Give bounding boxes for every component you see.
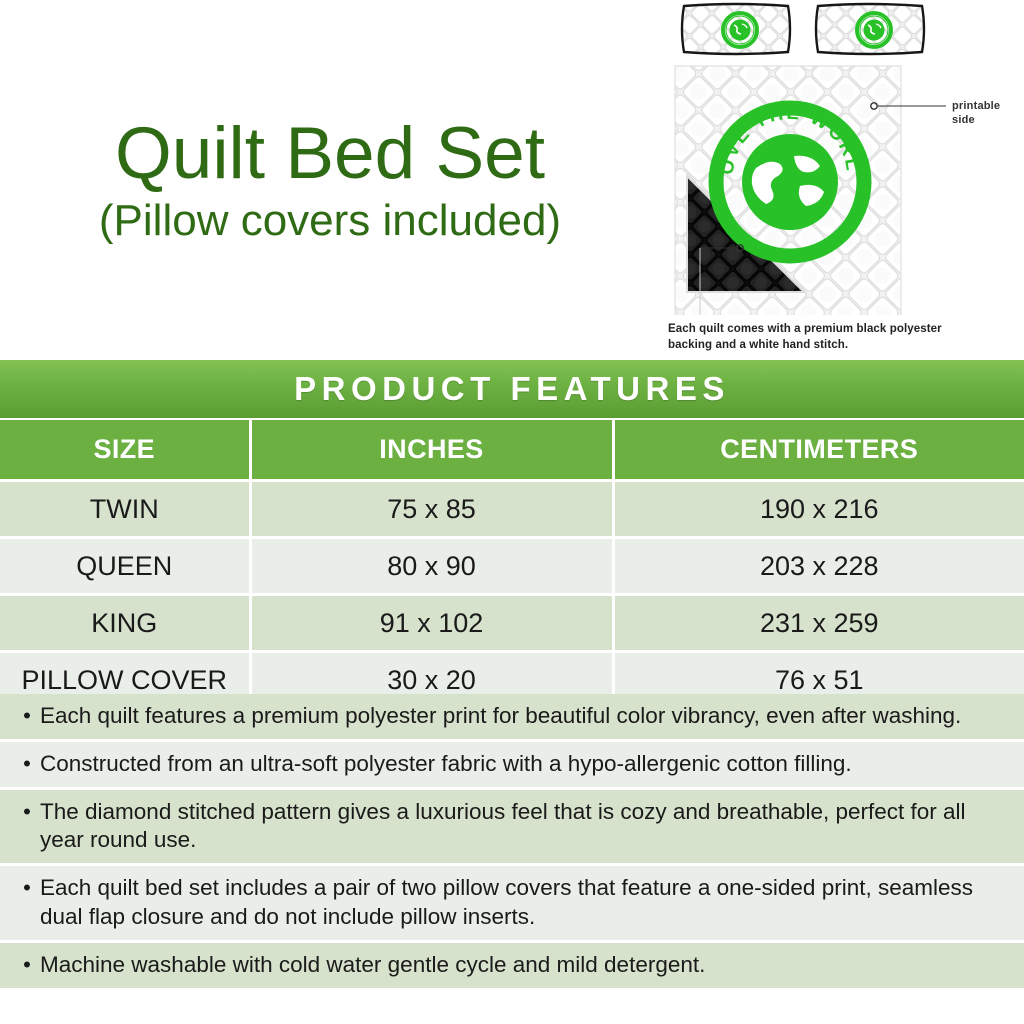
bullet-icon: • [14,874,40,902]
feature-text: Each quilt features a premium polyester … [40,702,1010,731]
cell-centimeters: 203 x 228 [613,538,1024,595]
page-title: Quilt Bed Set [0,118,660,190]
printable-side-line1: printable [952,100,1022,114]
table-header-row: SIZE INCHES CENTIMETERS [0,420,1024,481]
quilt-product-svg: LOVE THE WORLD [662,0,1024,315]
product-illustration: LOVE THE WORLD printable side Each quilt… [662,0,1024,360]
list-item: • Machine washable with cold water gentl… [0,943,1024,991]
backing-caption: Each quilt comes with a premium black po… [668,322,968,353]
bullet-icon: • [14,951,40,979]
feature-text: The diamond stitched pattern gives a lux… [40,798,1010,856]
cell-inches: 75 x 85 [250,481,613,538]
column-header-size: SIZE [0,420,250,481]
printable-side-line2: side [952,114,1022,128]
pillow-left [678,2,798,58]
cell-size: QUEEN [0,538,250,595]
title-block: Quilt Bed Set (Pillow covers included) [0,118,660,244]
quilt-body: LOVE THE WORLD [675,66,901,315]
bullet-icon: • [14,750,40,778]
pillow-right [812,2,932,58]
bullet-icon: • [14,702,40,730]
feature-text: Machine washable with cold water gentle … [40,951,1010,980]
feature-text: Each quilt bed set includes a pair of tw… [40,874,1010,932]
product-features-banner: PRODUCT FEATURES [0,360,1024,418]
table-row: TWIN 75 x 85 190 x 216 [0,481,1024,538]
list-item: • The diamond stitched pattern gives a l… [0,790,1024,867]
list-item: • Each quilt features a premium polyeste… [0,694,1024,742]
table-row: QUEEN 80 x 90 203 x 228 [0,538,1024,595]
table-row: KING 91 x 102 231 x 259 [0,595,1024,652]
bullet-icon: • [14,798,40,826]
list-item: • Each quilt bed set includes a pair of … [0,866,1024,943]
page-subtitle: (Pillow covers included) [0,198,660,244]
cell-centimeters: 190 x 216 [613,481,1024,538]
cell-size: KING [0,595,250,652]
product-features-title: PRODUCT FEATURES [294,370,730,408]
printable-side-label: printable side [952,100,1022,128]
cell-centimeters: 231 x 259 [613,595,1024,652]
column-header-centimeters: CENTIMETERS [613,420,1024,481]
feature-text: Constructed from an ultra-soft polyester… [40,750,1010,779]
list-item: • Constructed from an ultra-soft polyest… [0,742,1024,790]
size-table: SIZE INCHES CENTIMETERS TWIN 75 x 85 190… [0,420,1024,710]
header-section: Quilt Bed Set (Pillow covers included) [0,0,1024,360]
column-header-inches: INCHES [250,420,613,481]
feature-list: • Each quilt features a premium polyeste… [0,694,1024,991]
cell-inches: 91 x 102 [250,595,613,652]
cell-inches: 80 x 90 [250,538,613,595]
cell-size: TWIN [0,481,250,538]
